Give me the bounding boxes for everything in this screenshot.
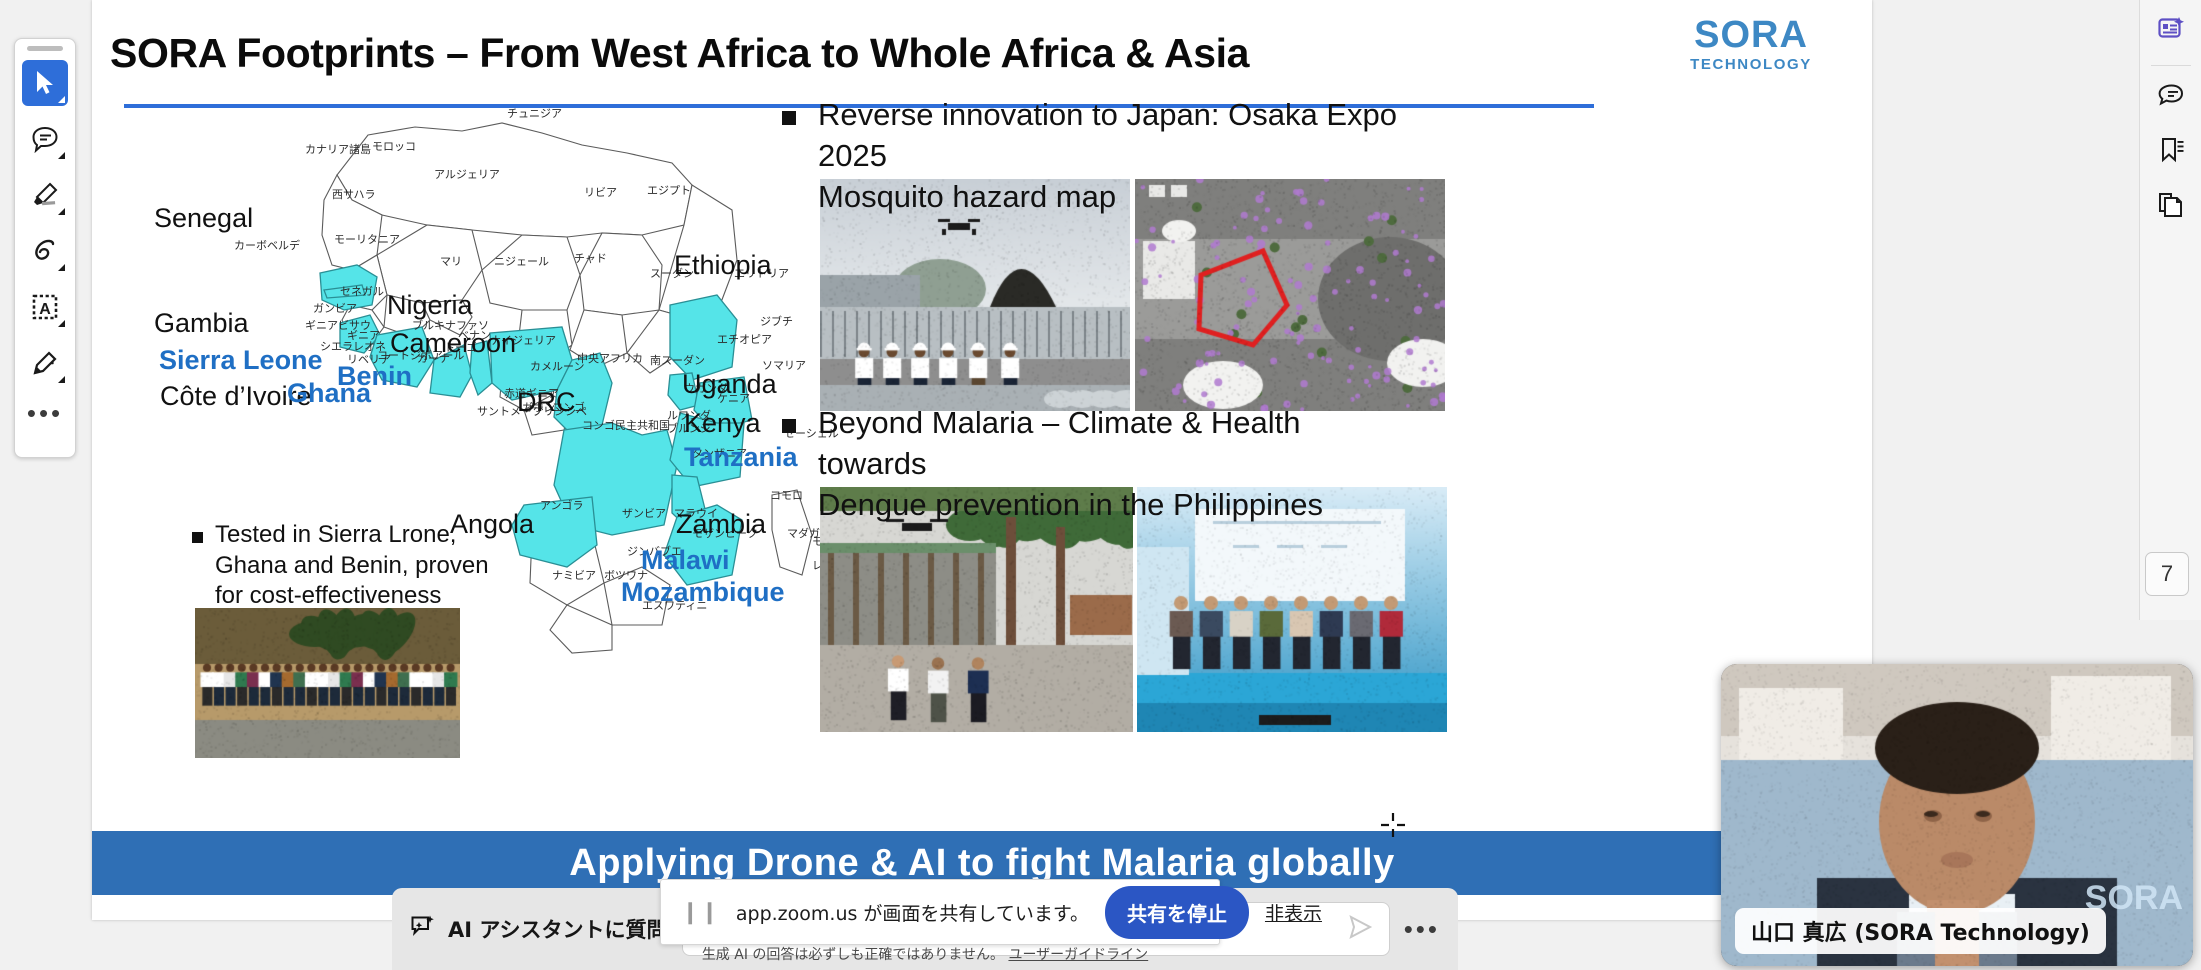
map-jp-label: コンゴ民主共和国	[582, 417, 670, 433]
comment-bubble-icon	[2157, 81, 2185, 114]
bullet-square-icon	[782, 111, 796, 125]
map-country-label: Nigeria	[387, 290, 473, 321]
map-country-label: Uganda	[682, 369, 777, 400]
map-country-label: Kenya	[684, 408, 761, 439]
ai-prompt-icon	[410, 914, 436, 945]
select-tool-button[interactable]	[22, 60, 68, 106]
tool-expand-caret[interactable]	[58, 376, 65, 383]
tool-expand-caret[interactable]	[58, 264, 65, 271]
map-jp-label: ジブチ	[760, 313, 793, 329]
map-country-label: Benin	[337, 361, 412, 392]
page-number-indicator[interactable]: 7	[2145, 552, 2189, 596]
map-jp-label: ガンビア	[313, 300, 357, 316]
tool-expand-caret[interactable]	[58, 320, 65, 327]
map-country-label: Cameroon	[390, 328, 516, 359]
bookmarks-button[interactable]	[2148, 129, 2194, 175]
map-jp-label: ニジェール	[494, 253, 549, 269]
hide-toast-link[interactable]: 非表示	[1265, 899, 1322, 926]
app-root: A ••• SORA Footprints – From West Africa…	[0, 0, 2201, 970]
ai-disclaimer-text: 生成 AI の回答は必ずしも正確ではありません。	[702, 947, 1009, 963]
map-country-label: DRC	[517, 387, 576, 418]
tool-expand-caret[interactable]	[58, 152, 65, 159]
right-bullet-2-text: Beyond Malaria – Climate & Health toward…	[818, 403, 1402, 526]
map-jp-label: アルジェリア	[434, 166, 500, 182]
map-country-label: Malawi	[641, 545, 730, 576]
resize-crosshair-cursor	[1380, 812, 1406, 838]
ai-assistant-label-text: AI アシスタントに質問	[448, 914, 668, 944]
logo-wordmark: SORA	[1666, 16, 1836, 54]
copy-pages-icon	[2157, 191, 2185, 224]
participant-name-label: 山口 真広 (SORA Technology)	[1735, 908, 2106, 954]
comment-tool-button[interactable]	[22, 116, 68, 162]
more-tools-button[interactable]: •••	[27, 396, 63, 430]
comment-icon	[31, 125, 59, 153]
stop-sharing-button[interactable]: 共有を停止	[1105, 886, 1249, 939]
svg-text:A: A	[39, 301, 51, 318]
map-jp-label: セネガル	[340, 283, 384, 299]
map-country-label: Mozambique	[621, 577, 785, 608]
toolbar-drag-handle[interactable]	[27, 46, 63, 51]
left-bullet-block: Tested in Sierra Lrone, Ghana and Benin,…	[192, 520, 512, 612]
pause-icon[interactable]: ❙❙	[681, 899, 720, 925]
map-jp-label: カーボベルデ	[234, 237, 300, 253]
map-jp-label: ザンビア	[622, 505, 666, 521]
map-jp-label: エジプト	[647, 182, 691, 198]
tool-expand-caret[interactable]	[58, 208, 65, 215]
ai-guidelines-link[interactable]: ユーザーガイドライン	[1008, 947, 1148, 963]
map-country-label: Gambia	[154, 308, 249, 339]
map-jp-label: マリ	[440, 253, 462, 269]
map-jp-label: モロッコ	[372, 138, 416, 154]
send-icon[interactable]	[1345, 912, 1375, 947]
map-country-label: Tanzania	[684, 442, 798, 473]
ai-assistant-icon	[2157, 15, 2185, 48]
share-status-text: app.zoom.us が画面を共有しています。	[736, 899, 1089, 926]
map-jp-label: リビア	[584, 184, 617, 200]
slide-title: SORA Footprints – From West Africa to Wh…	[110, 30, 1400, 77]
rail-divider	[2151, 65, 2191, 66]
ai-assistant-label[interactable]: AI アシスタントに質問	[410, 914, 668, 945]
sora-logo: SORA TECHNOLOGY	[1666, 16, 1836, 73]
map-jp-label: 中央アフリカ	[577, 350, 643, 366]
map-jp-label: ナミビア	[552, 567, 596, 583]
right-bullet-2: Beyond Malaria – Climate & Health toward…	[782, 403, 1402, 526]
map-country-label: Zambia	[676, 509, 766, 540]
page-thumbnails-button[interactable]	[2148, 184, 2194, 230]
map-jp-label: カナリア諸島	[305, 141, 371, 157]
annotation-toolbar: A •••	[14, 38, 76, 458]
participant-video-tile[interactable]: SORA 山口 真広 (SORA Technology)	[1721, 664, 2193, 966]
highlighter-icon	[31, 181, 59, 209]
map-jp-label: アンゴラ	[540, 497, 584, 513]
map-jp-label: モーリタニア	[334, 231, 400, 247]
tool-expand-caret[interactable]	[58, 96, 65, 103]
logo-tagline: TECHNOLOGY	[1666, 56, 1836, 73]
map-country-label: Ethiopia	[674, 250, 772, 281]
text-edit-tool-button[interactable]: A	[22, 284, 68, 330]
photo-africa-community-group	[195, 608, 460, 758]
right-sidebar	[2139, 0, 2201, 620]
bullet-square-icon	[782, 419, 796, 433]
map-jp-label: 西サハラ	[332, 186, 376, 202]
ai-assistant-button[interactable]	[2148, 8, 2194, 54]
text-box-icon: A	[31, 293, 59, 321]
screen-share-toast: ❙❙ app.zoom.us が画面を共有しています。 共有を停止 非表示	[660, 879, 1220, 945]
left-bullet-text: Tested in Sierra Lrone, Ghana and Benin,…	[215, 520, 489, 612]
right-bullet-1-text: Reverse innovation to Japan: Osaka Expo …	[818, 95, 1402, 218]
map-jp-label: 南スーダン	[650, 352, 705, 368]
map-jp-label: エチオピア	[717, 331, 772, 347]
pdf-page[interactable]: SORA Footprints – From West Africa to Wh…	[92, 0, 1872, 920]
ai-more-options-button[interactable]: •••	[1404, 914, 1440, 945]
map-jp-label: チュニジア	[507, 105, 562, 121]
map-country-label: Sierra Leone	[159, 345, 323, 376]
cursor-icon	[33, 70, 57, 96]
ai-disclaimer: 生成 AI の回答は必ずしも正確ではありません。 ユーザーガイドライン	[392, 944, 1458, 964]
map-country-label: Senegal	[154, 203, 253, 234]
right-bullet-1: Reverse innovation to Japan: Osaka Expo …	[782, 95, 1402, 218]
bookmark-icon	[2157, 136, 2185, 169]
highlight-tool-button[interactable]	[22, 172, 68, 218]
freehand-icon	[31, 238, 59, 264]
sign-tool-button[interactable]	[22, 340, 68, 386]
signature-icon	[31, 349, 59, 377]
comments-button[interactable]	[2148, 74, 2194, 120]
bullet-square-icon	[192, 532, 203, 543]
draw-tool-button[interactable]	[22, 228, 68, 274]
map-jp-label: チャド	[574, 250, 607, 266]
